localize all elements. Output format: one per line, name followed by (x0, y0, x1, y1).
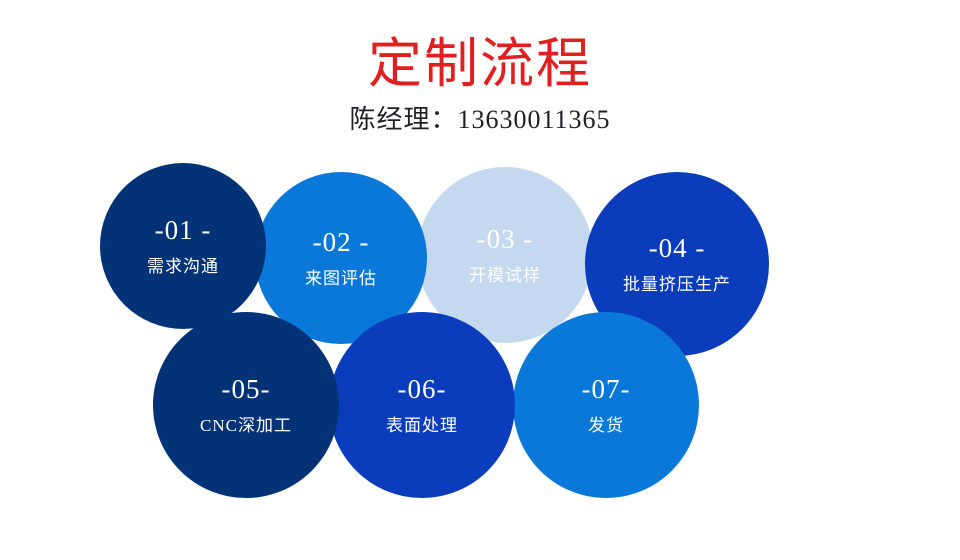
step-label: 批量挤压生产 (623, 274, 731, 296)
step-number: -06- (398, 373, 447, 405)
process-step-06[interactable]: -06- 表面处理 (329, 312, 515, 498)
step-label: 发货 (588, 415, 624, 437)
contact-subtitle: 陈经理：13630011365 (0, 104, 960, 136)
step-number: -07- (582, 373, 631, 405)
step-label: 表面处理 (386, 415, 458, 437)
step-number: -05- (222, 373, 271, 405)
step-label: CNC深加工 (200, 415, 292, 437)
step-number: -02 - (313, 226, 370, 258)
step-number: -04 - (649, 232, 706, 264)
process-step-01[interactable]: -01 - 需求沟通 (100, 163, 266, 329)
process-step-07[interactable]: -07- 发货 (513, 312, 699, 498)
step-label: 来图评估 (305, 268, 377, 290)
step-label: 开模试样 (469, 265, 541, 287)
page-title: 定制流程 (0, 34, 960, 94)
step-label: 需求沟通 (147, 256, 219, 278)
step-number: -03 - (477, 223, 534, 255)
process-step-05[interactable]: -05- CNC深加工 (153, 312, 339, 498)
step-number: -01 - (155, 214, 212, 246)
slide-canvas: 定制流程 陈经理：13630011365 -01 - 需求沟通 -02 - 来图… (0, 0, 960, 560)
